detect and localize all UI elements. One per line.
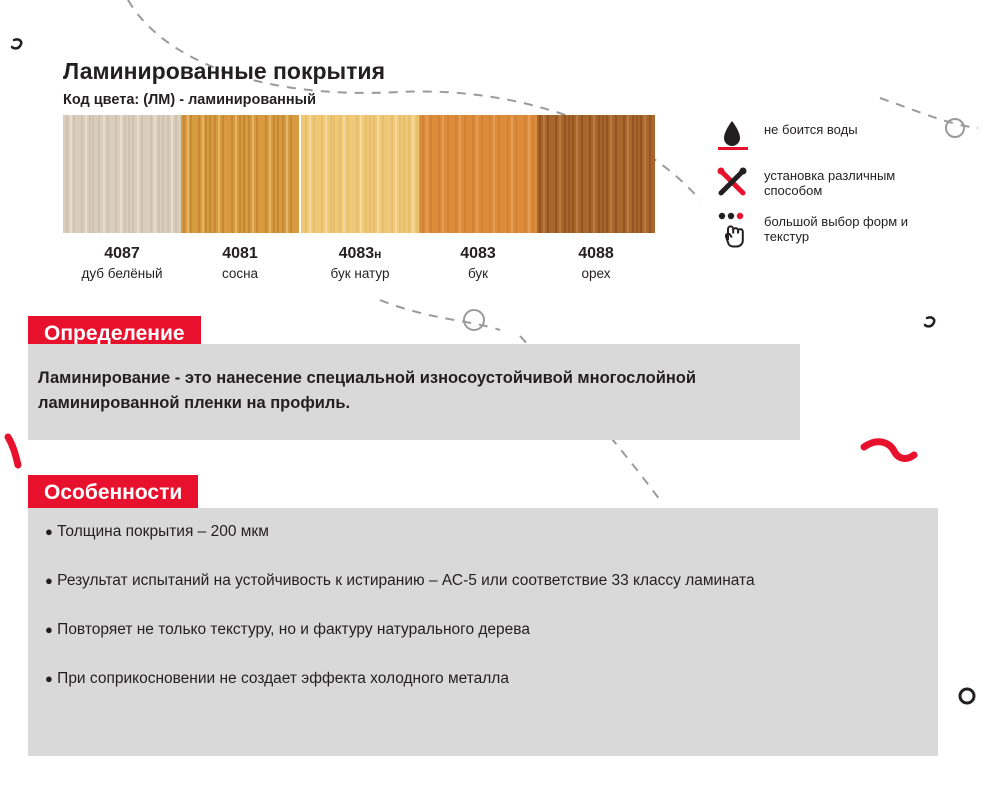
swatch-code-main: 4087 [104, 245, 140, 262]
swatch-code-main: 4083 [339, 245, 375, 262]
swatch-item[interactable]: 4088 орех [537, 115, 655, 281]
swatch-color [537, 115, 655, 233]
hand-pointer-icon [714, 210, 758, 246]
swatch-name: дуб белёный [63, 266, 181, 281]
specs-list: ● Толщина покрытия – 200 мкм ● Результат… [45, 520, 925, 716]
bullet-marker: ● [45, 622, 53, 637]
swatch-item[interactable]: 4081 сосна [181, 115, 299, 281]
definition-text: Ламинирование - это нанесение специально… [38, 366, 738, 416]
swatch-color [301, 115, 419, 233]
swatch-item[interactable]: 4083 бук [419, 115, 537, 281]
bullet-marker: ● [45, 573, 53, 588]
list-item: ● Результат испытаний на устойчивость к … [45, 569, 925, 592]
swatch-code-main: 4081 [222, 245, 258, 262]
list-item-text: Повторяет не только текстуру, но и факту… [57, 621, 530, 638]
swatch-name: сосна [181, 266, 299, 281]
swatch-code-main: 4088 [578, 245, 614, 262]
swatch-color [419, 115, 537, 233]
feature-text: установка различным способом [764, 164, 954, 198]
feature-text: большой выбор форм и текстур [764, 210, 954, 244]
list-item-text: При соприкосновении не создает эффекта х… [57, 670, 509, 687]
list-item: ● Толщина покрытия – 200 мкм [45, 520, 925, 543]
tools-cross-icon [714, 164, 758, 200]
swatch-code: 4088 [537, 245, 655, 263]
swatch-color [63, 115, 181, 233]
swatch-code: 4083 [419, 245, 537, 263]
feature-item: установка различным способом [714, 164, 954, 198]
list-item-text: Толщина покрытия – 200 мкм [57, 523, 269, 540]
swatch-item[interactable]: 4087 дуб белёный [63, 115, 181, 281]
page-subtitle: Код цвета: (ЛМ) - ламинированный [63, 92, 316, 108]
swatch-name: бук [419, 266, 537, 281]
swatch-code-sub: н [374, 247, 381, 261]
poster-page: Ламинированные покрытия Код цвета: (ЛМ) … [0, 0, 1000, 800]
swatch-name: орех [537, 266, 655, 281]
specs-heading: Особенности [28, 475, 198, 512]
swatch-code: 4083н [301, 245, 419, 263]
swatch-color [181, 115, 299, 233]
list-item: ● При соприкосновении не создает эффекта… [45, 667, 925, 690]
page-title: Ламинированные покрытия [63, 58, 385, 85]
bullet-marker: ● [45, 671, 53, 686]
list-item-text: Результат испытаний на устойчивость к ис… [57, 572, 754, 589]
swatch-name: бук натур [301, 266, 419, 281]
bullet-marker: ● [45, 524, 53, 539]
feature-item: не боится воды [714, 118, 954, 152]
feature-list: не боится воды установка различным спосо… [714, 118, 954, 256]
feature-item: большой выбор форм и текстур [714, 210, 954, 244]
water-drop-icon [714, 118, 758, 154]
swatch-code: 4081 [181, 245, 299, 263]
list-item: ● Повторяет не только текстуру, но и фак… [45, 618, 925, 641]
swatch-code-main: 4083 [460, 245, 496, 262]
swatch-code: 4087 [63, 245, 181, 263]
feature-text: не боится воды [764, 118, 954, 137]
swatch-item[interactable]: 4083н бук натур [301, 115, 419, 281]
